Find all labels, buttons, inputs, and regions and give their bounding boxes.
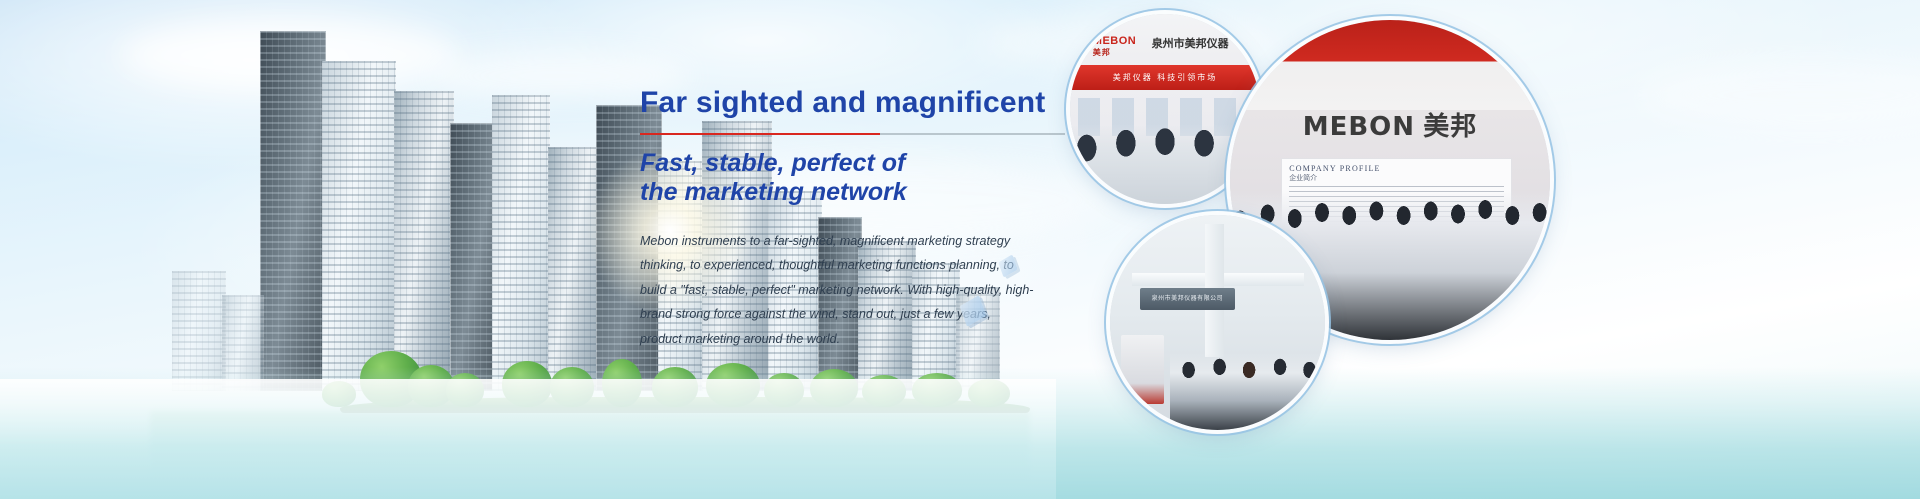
- subtitle-line-1: Fast, stable, perfect of: [640, 149, 905, 177]
- page-title: Far sighted and magnificent: [640, 86, 1070, 119]
- divider-accent: [640, 133, 880, 135]
- cloud-decoration: [120, 20, 460, 90]
- company-profile-title-cjk: 企业简介: [1289, 173, 1503, 183]
- mebon-brand-sign: MEBON 美邦: [1303, 106, 1478, 143]
- banner-copy: Far sighted and magnificent Fast, stable…: [640, 86, 1070, 351]
- booth-visitors-group: [1170, 353, 1325, 430]
- banner-description: Mebon instruments to a far-sighted, magn…: [640, 229, 1036, 351]
- subtitle-line-2: the marketing network: [640, 178, 1070, 207]
- booth-header-text: 泉州市美邦仪器: [1152, 35, 1229, 51]
- photo-trade-show-booth: 泉州市美邦仪器有限公司: [1110, 215, 1325, 430]
- booth-company-sign: 泉州市美邦仪器有限公司: [1140, 288, 1235, 310]
- divider: [640, 133, 1065, 135]
- company-profile-title-latin: COMPANY PROFILE: [1289, 164, 1503, 173]
- hero-banner: Far sighted and magnificent Fast, stable…: [0, 0, 1920, 499]
- subtitle: Fast, stable, perfect of the marketing n…: [640, 149, 1070, 207]
- test-chamber-equipment: [1121, 335, 1164, 404]
- booth-red-arch: [1230, 20, 1550, 110]
- cloud-decoration: [1640, 60, 1920, 130]
- water-highlight: [0, 379, 1056, 499]
- photo-collage: MEBON 美邦 泉州市美邦仪器 美邦仪器 科技引领市场 MEBON 美邦: [1060, 0, 1620, 499]
- mebon-logo-small: MEBON 美邦: [1093, 35, 1136, 58]
